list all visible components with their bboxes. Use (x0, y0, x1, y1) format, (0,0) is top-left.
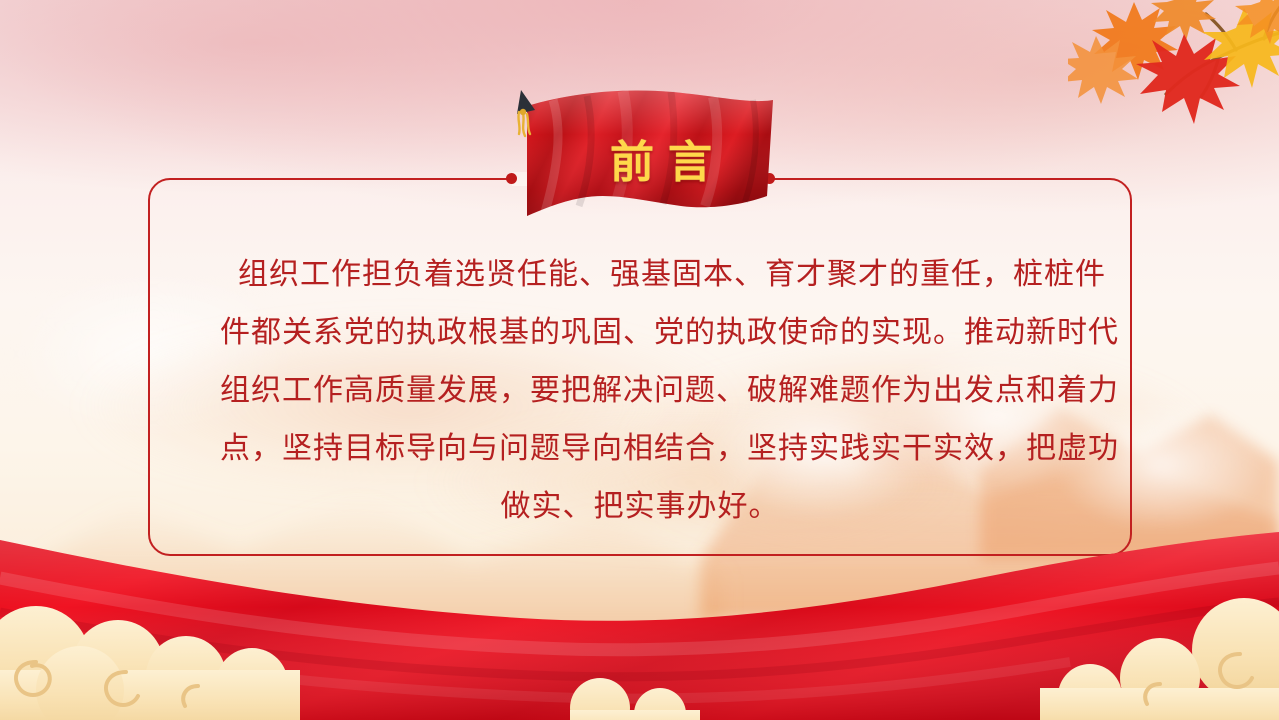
paragraph-line: 组织工作高质量发展，要把解决问题、破解难题作为出发点和着力 (176, 362, 1104, 420)
flag-banner: 前言 (505, 88, 805, 233)
paragraph-line: 点，坚持目标导向与问题导向相结合，坚持实践实干实效，把虚功 (176, 420, 1104, 478)
bottom-decoration (0, 520, 1279, 720)
red-flag-icon (505, 88, 805, 233)
paragraph-line: 组织工作担负着选贤任能、强基固本、育才聚才的重任，桩桩件 (176, 246, 1104, 304)
preface-paragraph: 组织工作担负着选贤任能、强基固本、育才聚才的重任，桩桩件 件都关系党的执政根基的… (176, 246, 1104, 536)
maple-leaves-icon (1068, 0, 1279, 144)
paragraph-line: 件都关系党的执政根基的巩固、党的执政使命的实现。推动新时代 (176, 304, 1104, 362)
slide-canvas: 前言 组织工作担负着选贤任能、强基固本、育才聚才的重任，桩桩件 件都关系党的执政… (0, 0, 1279, 720)
